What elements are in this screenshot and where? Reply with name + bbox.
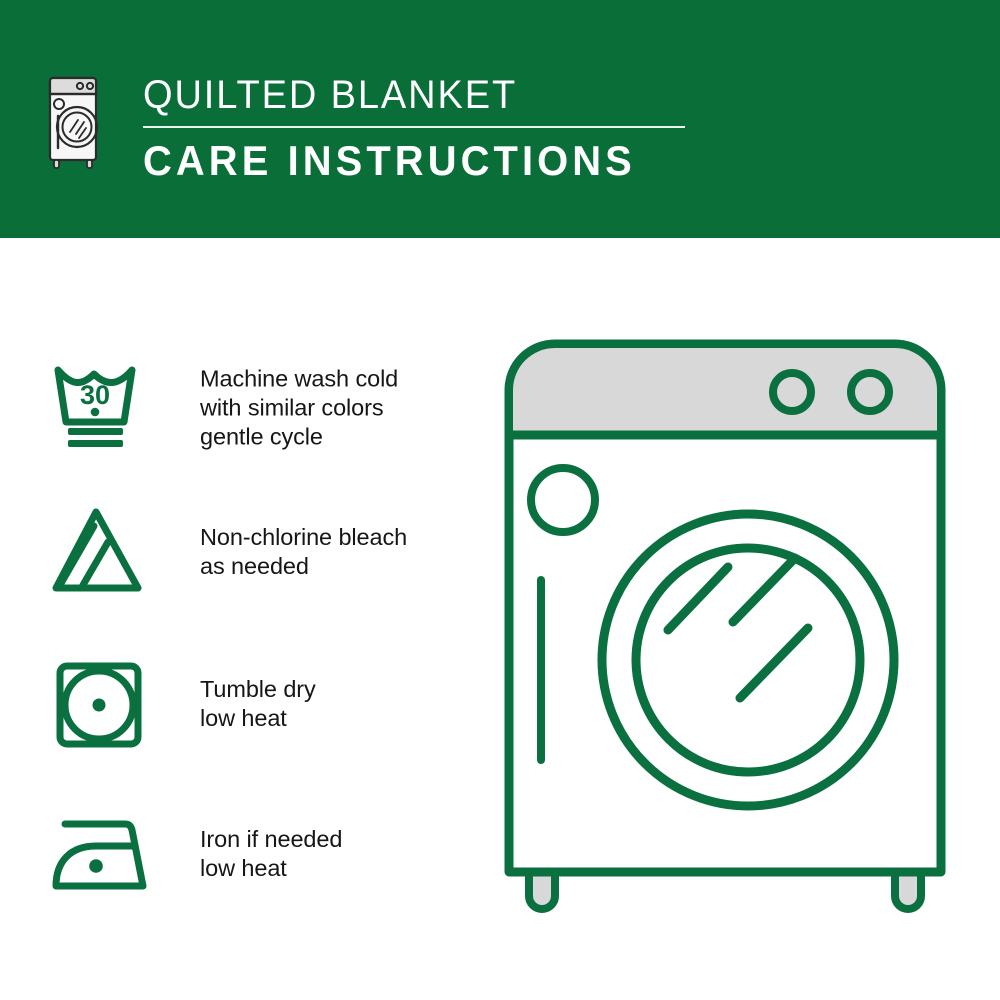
- care-row-iron: Iron if needed low heat: [0, 794, 470, 914]
- washing-machine-icon: [44, 68, 108, 172]
- care-row-bleach: Non-chlorine bleach as needed: [0, 492, 470, 612]
- bleach-triangle-icon: [48, 500, 160, 604]
- care-row-tumble-dry: Tumble dry low heat: [0, 644, 470, 764]
- care-line: Machine wash cold: [200, 365, 398, 394]
- care-line: with similar colors: [200, 394, 398, 423]
- care-instruction-list: 30 Machine wash cold with similar colors…: [0, 238, 470, 1000]
- care-row-machine-wash: 30 Machine wash cold with similar colors…: [0, 348, 470, 468]
- care-text-iron: Iron if needed low heat: [200, 825, 342, 883]
- page-subtitle: CARE INSTRUCTIONS: [143, 137, 713, 185]
- page-title: QUILTED BLANKET: [143, 72, 713, 118]
- care-line: low heat: [200, 704, 316, 733]
- care-instructions-page: QUILTED BLANKET CARE INSTRUCTIONS 30 Mac…: [0, 0, 1000, 1000]
- title-divider: [143, 126, 685, 128]
- care-text-machine-wash: Machine wash cold with similar colors ge…: [200, 365, 398, 452]
- tumble-dry-low-icon: [48, 652, 160, 756]
- care-text-bleach: Non-chlorine bleach as needed: [200, 523, 407, 581]
- front-load-washing-machine-illustration: [495, 330, 975, 930]
- care-text-tumble-dry: Tumble dry low heat: [200, 675, 316, 733]
- header-title-block: QUILTED BLANKET CARE INSTRUCTIONS: [143, 72, 743, 185]
- wash-tub-30-icon: 30: [48, 356, 160, 460]
- care-line: low heat: [200, 854, 342, 883]
- care-line: as needed: [200, 552, 407, 581]
- machine-control-panel: [513, 348, 937, 435]
- care-line: Non-chlorine bleach: [200, 523, 407, 552]
- header-banner: QUILTED BLANKET CARE INSTRUCTIONS: [0, 0, 1000, 238]
- wash-temperature-label: 30: [80, 380, 110, 410]
- iron-low-icon: [48, 802, 160, 906]
- care-line: Tumble dry: [200, 675, 316, 704]
- care-line: Iron if needed: [200, 825, 342, 854]
- care-line: gentle cycle: [200, 423, 398, 452]
